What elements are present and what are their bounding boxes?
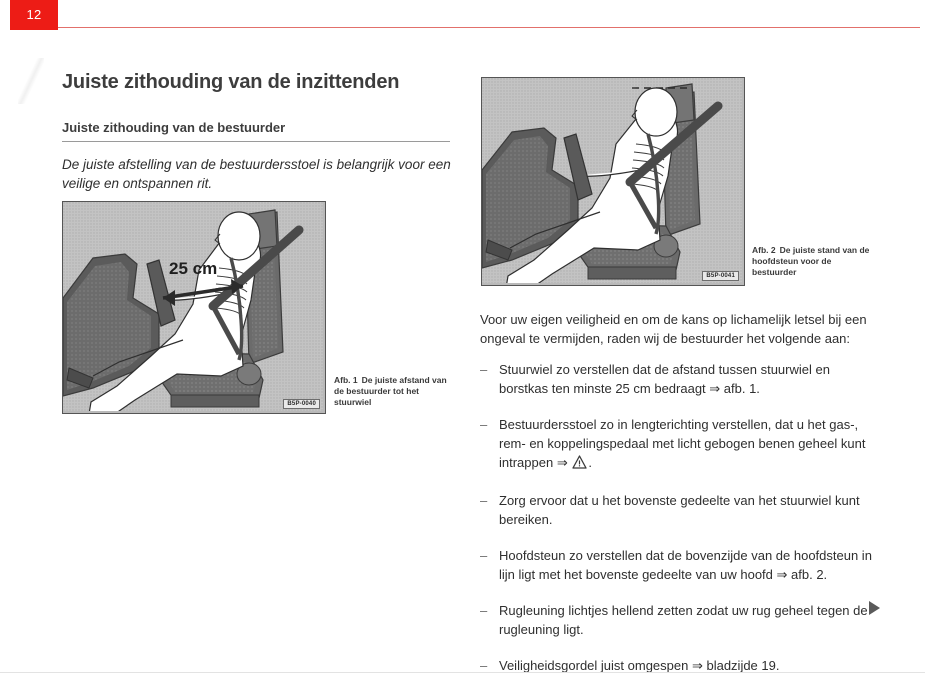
page-number: 12: [10, 0, 58, 30]
cross-reference[interactable]: ⇒ bladzijde 19.: [692, 658, 780, 673]
list-item: – Rugleuning lichtjes hellend zetten zod…: [480, 601, 878, 639]
list-item-text: Bestuurdersstoel zo in lengterichting ve…: [499, 417, 865, 470]
figure-2-caption-number: Afb. 2: [752, 245, 776, 255]
figure-2-code: B5P-0041: [702, 271, 739, 281]
page-title: Juiste zithouding van de inzittenden: [62, 70, 452, 94]
lead-paragraph: De juiste afstelling van de bestuurderss…: [62, 155, 452, 193]
figure-1-code: B5P-0040: [283, 399, 320, 409]
bullet-dash: –: [480, 491, 487, 510]
warning-triangle-icon: [572, 455, 587, 474]
figure-2: B5P-0041: [481, 77, 745, 286]
list-item: – Zorg ervoor dat u het bovenste gedeelt…: [480, 491, 878, 529]
list-item-text: Veiligheidsgordel juist omgespen: [499, 658, 692, 673]
figure-2-illustration: [482, 78, 742, 283]
bullet-dash: –: [480, 601, 487, 620]
figure-1-caption-number: Afb. 1: [334, 375, 358, 385]
header-divider: [58, 27, 920, 28]
list-item-text: Zorg ervoor dat u het bovenste gedeelte …: [499, 493, 860, 527]
cross-reference[interactable]: ⇒ afb. 1.: [709, 381, 760, 396]
continuation-arrow-icon: [869, 601, 880, 615]
figure-2-caption: Afb. 2De juiste stand van de hoofdsteun …: [752, 245, 877, 278]
bullet-dash: –: [480, 360, 487, 379]
subtitle-divider: [62, 141, 450, 142]
list-item-text: Stuurwiel zo verstellen dat de afstand t…: [499, 362, 830, 396]
figure-1-caption: Afb. 1De juiste afstand van de bestuurde…: [334, 375, 452, 408]
figure-1: 25 cm B5P-0040: [62, 201, 326, 414]
list-item: – Stuurwiel zo verstellen dat de afstand…: [480, 360, 878, 398]
section-subtitle: Juiste zithouding van de bestuurder: [62, 120, 452, 136]
list-item-text: Rugleuning lichtjes hellend zetten zodat…: [499, 603, 868, 637]
scan-edge: [0, 672, 925, 673]
bullet-dash: –: [480, 415, 487, 434]
page-header: 12: [0, 0, 925, 32]
left-column: Juiste zithouding van de inzittenden Jui…: [62, 70, 452, 193]
list-item: – Hoofdsteun zo verstellen dat de bovenz…: [480, 546, 878, 584]
bullet-dash: –: [480, 546, 487, 565]
intro-paragraph: Voor uw eigen veiligheid en om de kans o…: [480, 310, 876, 348]
scan-artifact: [18, 58, 44, 104]
list-item: – Bestuurdersstoel zo in lengterichting …: [480, 415, 878, 474]
recommendation-list: – Stuurwiel zo verstellen dat de afstand…: [480, 360, 878, 692]
measurement-label: 25 cm: [169, 259, 217, 278]
figure-1-illustration: 25 cm: [63, 202, 323, 411]
cross-reference[interactable]: ⇒ afb. 2.: [777, 567, 828, 582]
list-item-text-suffix: .: [588, 455, 592, 470]
